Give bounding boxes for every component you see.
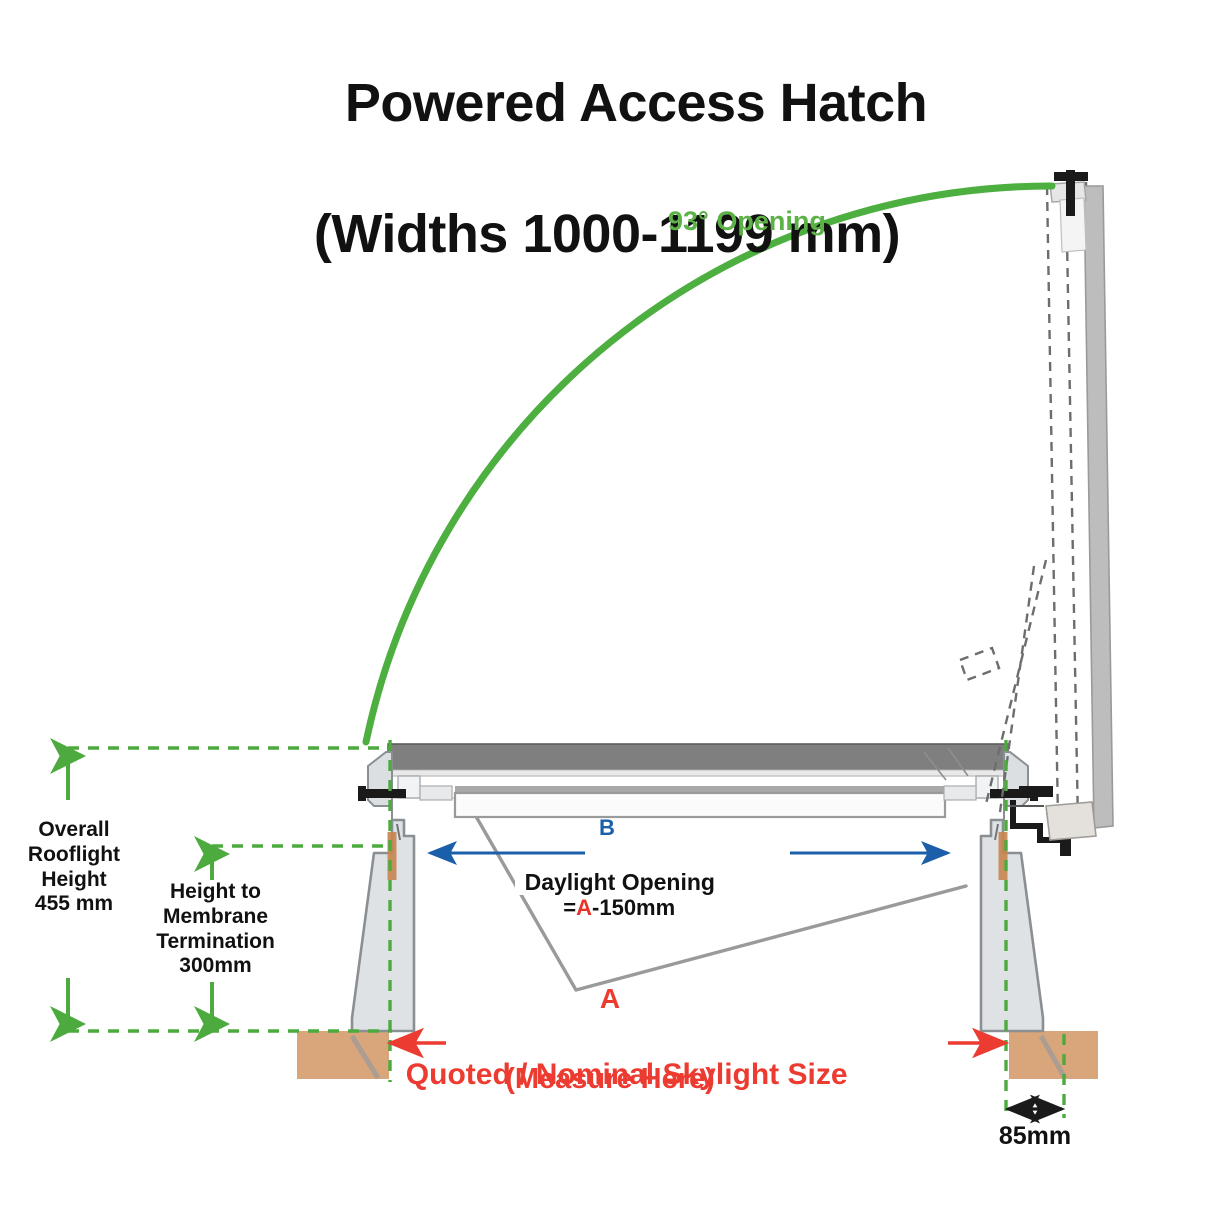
formula-suffix: -150mm — [592, 895, 675, 920]
timber-block-right — [1009, 1031, 1098, 1079]
glazing-assembly — [358, 744, 1038, 820]
formula-letter-a: A — [576, 895, 592, 920]
daylight-opening-formula: =A-150mm — [0, 869, 1214, 947]
formula-prefix: = — [563, 895, 576, 920]
page-title: Powered Access Hatch (Widths 1000-1199 m… — [0, 8, 1214, 394]
diagram-canvas: Powered Access Hatch (Widths 1000-1199 m… — [0, 0, 1214, 1214]
daylight-opening-letter: B — [0, 815, 1214, 841]
title-line-2: (Widths 1000-1199 mm) — [0, 203, 1214, 267]
title-line-1: Powered Access Hatch — [345, 73, 927, 133]
flange-width-label: 85mm — [999, 1122, 1071, 1152]
measure-here-label: (Measure Here) — [505, 1062, 715, 1096]
quoted-size-letter: A — [600, 982, 620, 1015]
opening-angle-label: 93° Opening — [668, 206, 826, 238]
